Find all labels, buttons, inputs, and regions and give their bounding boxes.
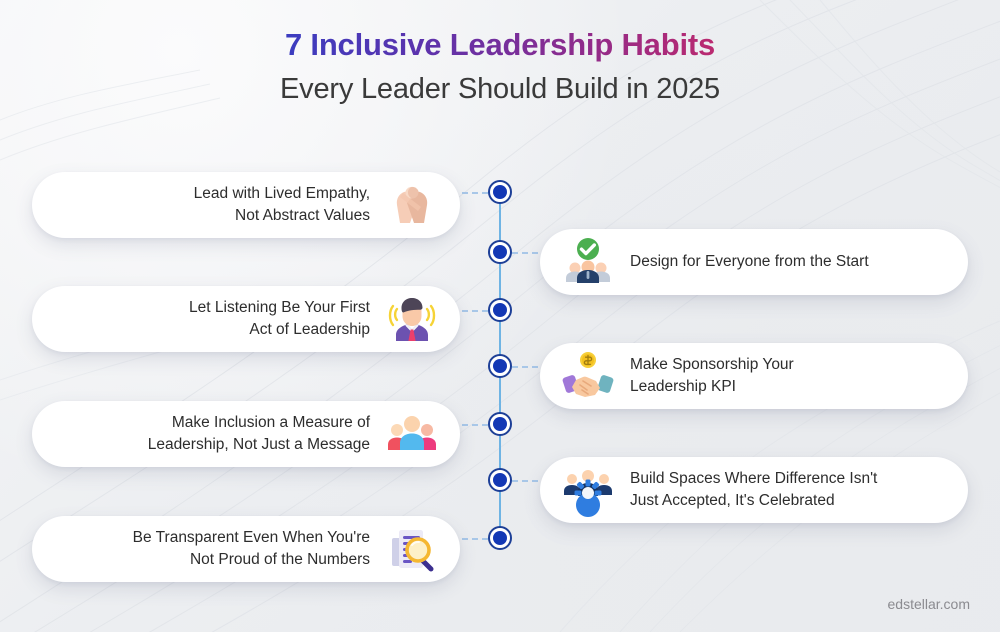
timeline-connector-3: [462, 310, 488, 312]
habit-text-line-1: Design for Everyone from the Start: [630, 251, 869, 273]
habit-text-line-2: Just Accepted, It's Celebrated: [630, 490, 877, 512]
timeline-node-dot: [493, 531, 507, 545]
habit-text-2: Design for Everyone from the Start: [616, 251, 869, 273]
habit-text-1: Lead with Lived Empathy,Not Abstract Val…: [194, 183, 384, 227]
timeline-connector-6: [512, 480, 538, 482]
handshake-coin-icon: [560, 348, 616, 404]
habit-text-line-1: Lead with Lived Empathy,: [194, 183, 370, 205]
timeline-node-dot: [493, 417, 507, 431]
timeline-node-5: [488, 412, 512, 436]
habit-card-2[interactable]: Design for Everyone from the Start: [540, 229, 968, 295]
habit-text-line-1: Let Listening Be Your First: [189, 297, 370, 319]
habit-text-4: Make Sponsorship YourLeadership KPI: [616, 354, 794, 398]
habit-text-3: Let Listening Be Your FirstAct of Leader…: [189, 297, 384, 341]
habit-text-line-1: Make Inclusion a Measure of: [148, 412, 370, 434]
habit-text-line-2: Not Proud of the Numbers: [133, 549, 370, 571]
timeline-node-dot: [493, 473, 507, 487]
habit-text-line-2: Leadership KPI: [630, 376, 794, 398]
people-check-icon: [560, 234, 616, 290]
habit-text-5: Make Inclusion a Measure ofLeadership, N…: [148, 412, 384, 456]
timeline-node-1: [488, 180, 512, 204]
timeline-connector-4: [512, 366, 538, 368]
habit-text-line-2: Act of Leadership: [189, 319, 370, 341]
site-credit: edstellar.com: [888, 596, 970, 612]
habit-text-line-1: Build Spaces Where Difference Isn't: [630, 468, 877, 490]
timeline-connector-5: [462, 424, 488, 426]
infographic-canvas: 7 Inclusive Leadership Habits Every Lead…: [0, 0, 1000, 632]
timeline-connector-7: [462, 538, 488, 540]
three-people-icon: [384, 406, 440, 462]
habit-text-7: Be Transparent Even When You'reNot Proud…: [133, 527, 384, 571]
habit-text-line-2: Not Abstract Values: [194, 205, 370, 227]
habit-card-6[interactable]: Build Spaces Where Difference Isn'tJust …: [540, 457, 968, 523]
title-line-2: Every Leader Should Build in 2025: [0, 71, 1000, 109]
timeline-node-4: [488, 354, 512, 378]
timeline-connector-2: [512, 252, 538, 254]
timeline-connector-1: [462, 192, 488, 194]
habit-text-line-1: Be Transparent Even When You're: [133, 527, 370, 549]
habit-card-3[interactable]: Let Listening Be Your FirstAct of Leader…: [32, 286, 460, 352]
habit-card-5[interactable]: Make Inclusion a Measure ofLeadership, N…: [32, 401, 460, 467]
timeline-node-dot: [493, 245, 507, 259]
clasped-hands-icon: [384, 177, 440, 233]
listening-person-icon: [384, 291, 440, 347]
page-title: 7 Inclusive Leadership Habits Every Lead…: [0, 26, 1000, 108]
timeline-node-6: [488, 468, 512, 492]
habit-text-line-2: Leadership, Not Just a Message: [148, 434, 370, 456]
habit-card-7[interactable]: Be Transparent Even When You'reNot Proud…: [32, 516, 460, 582]
timeline-node-2: [488, 240, 512, 264]
title-line-1: 7 Inclusive Leadership Habits: [0, 26, 1000, 65]
habit-card-4[interactable]: Make Sponsorship YourLeadership KPI: [540, 343, 968, 409]
timeline-node-3: [488, 298, 512, 322]
habit-card-1[interactable]: Lead with Lived Empathy,Not Abstract Val…: [32, 172, 460, 238]
habit-text-6: Build Spaces Where Difference Isn'tJust …: [616, 468, 877, 512]
timeline-node-dot: [493, 303, 507, 317]
habit-text-line-1: Make Sponsorship Your: [630, 354, 794, 376]
document-magnifier-icon: [384, 521, 440, 577]
timeline-node-dot: [493, 185, 507, 199]
timeline-node-7: [488, 526, 512, 550]
team-gear-icon: [560, 462, 616, 518]
timeline-node-dot: [493, 359, 507, 373]
